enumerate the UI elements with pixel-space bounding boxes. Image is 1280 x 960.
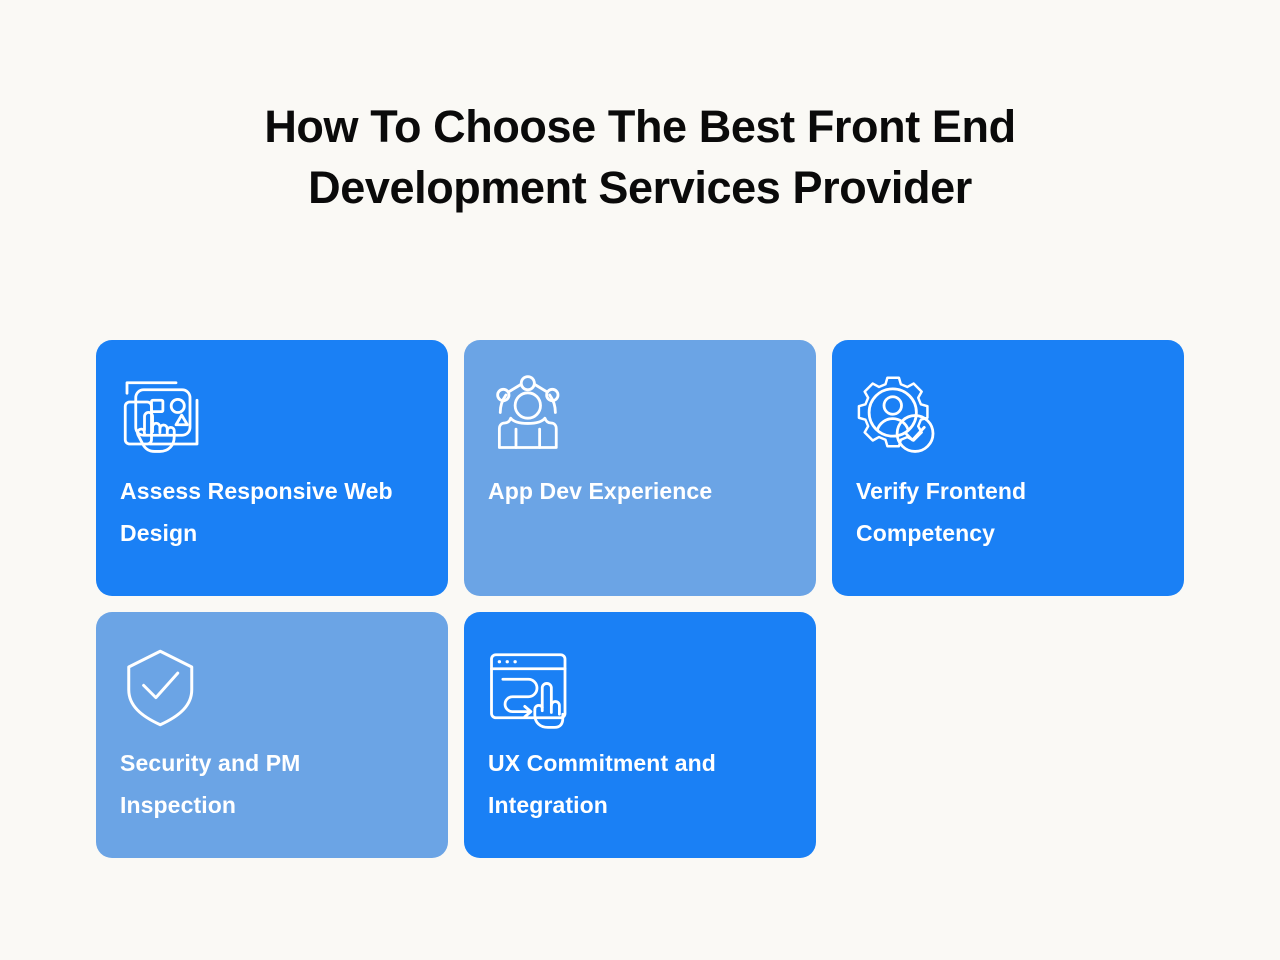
responsive-design-icon [120,368,204,464]
card-label: Assess Responsive Web Design [120,470,410,554]
shield-check-icon [120,640,204,736]
card-label: UX Commitment and Integration [488,742,778,826]
title-block: How To Choose The Best Front End Develop… [0,96,1280,218]
card-app-dev-experience[interactable]: App Dev Experience [464,340,816,596]
gear-person-check-icon [856,368,940,464]
card-security-and-pm-inspection[interactable]: Security and PM Inspection [96,612,448,858]
card-grid: Assess Responsive Web Design [96,340,1184,868]
card-ux-commitment-and-integration[interactable]: UX Commitment and Integration [464,612,816,858]
card-label: Verify Frontend Competency [856,470,1146,554]
card-label: Security and PM Inspection [120,742,410,826]
browser-flow-hand-icon [488,640,572,736]
card-label: App Dev Experience [488,470,712,512]
infographic-page: How To Choose The Best Front End Develop… [0,0,1280,960]
card-verify-frontend-competency[interactable]: Verify Frontend Competency [832,340,1184,596]
card-assess-responsive-web-design[interactable]: Assess Responsive Web Design [96,340,448,596]
team-person-icon [488,368,572,464]
page-title: How To Choose The Best Front End Develop… [225,96,1055,218]
